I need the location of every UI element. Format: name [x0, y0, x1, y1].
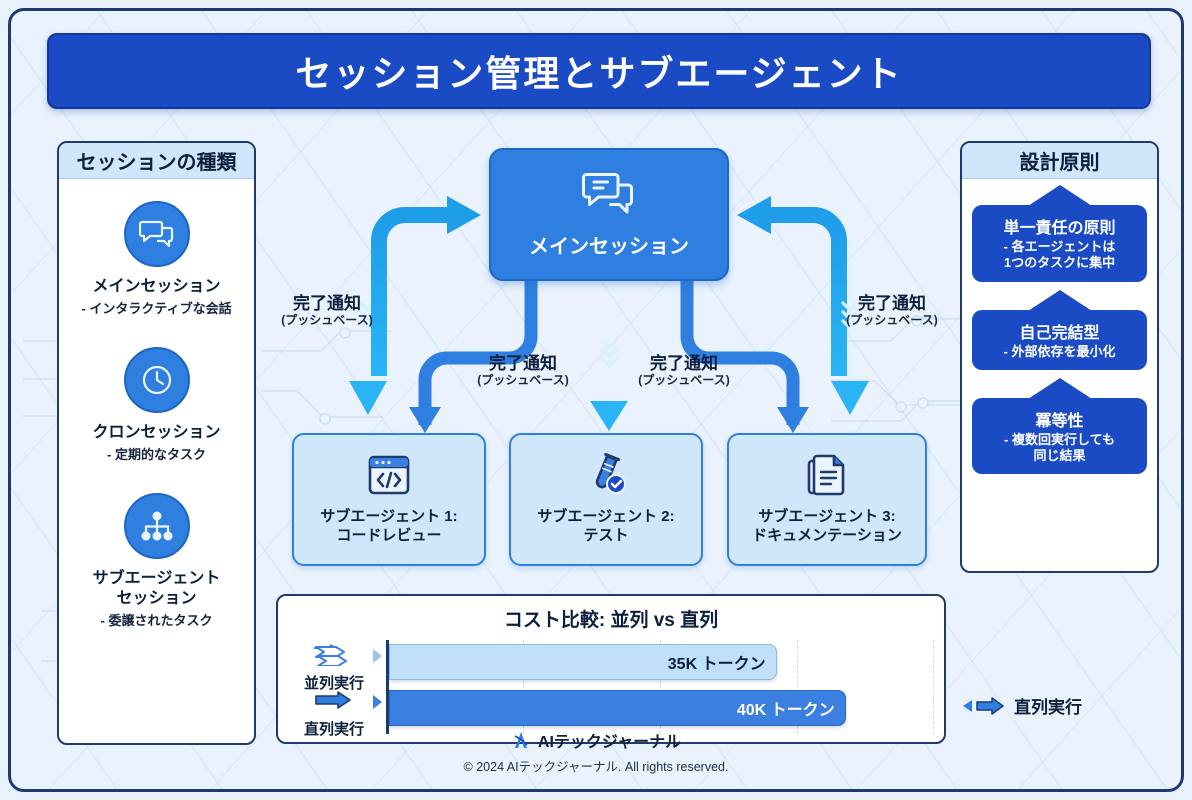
chart-bar-parallel[interactable]: 35K トークン	[389, 644, 777, 680]
chart-category-parallel: 並列実行	[288, 644, 380, 693]
arrow-label-mid-left: 完了通知 (プッシュベース)	[463, 354, 583, 387]
brand-logo-icon	[511, 730, 531, 750]
sequential-arrow-icon	[312, 690, 356, 712]
arrow-label-right-main: 完了通知	[829, 294, 955, 314]
session-type-subagent-sub: - 委譲されたタスク	[67, 610, 246, 629]
subagent-1-node[interactable]: サブエージェント 1: コードレビュー	[292, 433, 486, 566]
chart-tick-marker	[373, 695, 382, 709]
principle-3-title: 冪等性	[979, 407, 1140, 431]
documents-icon	[803, 453, 851, 502]
session-type-cron-sub: - 定期的なタスク	[67, 444, 246, 463]
chat-bubbles-icon	[581, 170, 637, 223]
chart-tick-marker	[373, 649, 382, 663]
main-session-label: メインセッション	[529, 230, 689, 259]
footer-copyright: © 2024 AIテックジャーナル. All rights reserved.	[11, 756, 1181, 775]
subagent-3-node[interactable]: サブエージェント 3: ドキュメンテーション	[727, 433, 927, 566]
chart-plot-area: 35K トークン 40K トークン	[386, 640, 934, 734]
arrow-label-mid-right-main: 完了通知	[624, 354, 744, 374]
arrow-right-curve-up	[737, 196, 839, 376]
parallel-arrow-icon	[312, 644, 356, 666]
session-types-panel: セッションの種類 メインセッション - インタラクティブな会話	[57, 141, 256, 745]
principle-1-sub: - 各エージェントは 1つのタスクに集中	[979, 239, 1140, 272]
arrow-label-right-sub: (プッシュベース)	[829, 314, 955, 328]
outer-frame: セッション管理とサブエージェント セッションの種類 メインセッション - インタ…	[8, 8, 1184, 792]
arrow-label-left-main: 完了通知	[264, 294, 390, 314]
chart-bar-row-parallel[interactable]: 35K トークン	[389, 644, 921, 680]
principle-2-title: 自己完結型	[979, 319, 1140, 343]
design-principles-heading: 設計原則	[1020, 146, 1100, 175]
page-title: セッション管理とサブエージェント	[47, 33, 1151, 109]
chart-title: コスト比較: 並列 vs 直列	[278, 605, 944, 632]
session-type-subagent[interactable]: サブエージェント セッション - 委譲されたタスク	[67, 493, 246, 628]
sequential-annotation: 直列実行	[951, 693, 1082, 718]
session-type-cron[interactable]: クロンセッション - 定期的なタスク	[67, 347, 246, 463]
chart-bar-row-sequential[interactable]: 40K トークン	[389, 690, 937, 726]
subagent-1-label: サブエージェント 1: コードレビュー	[320, 508, 457, 546]
cost-comparison-chart: コスト比較: 並列 vs 直列 並列実行 直列実行	[276, 594, 946, 744]
infographic-canvas: セッション管理とサブエージェント セッションの種類 メインセッション - インタ…	[0, 0, 1192, 800]
arrow-label-mid-left-sub: (プッシュベース)	[463, 374, 583, 388]
arrow-label-left: 完了通知 (プッシュベース)	[264, 294, 390, 327]
main-session-node[interactable]: メインセッション	[489, 148, 729, 281]
session-type-subagent-title: サブエージェント セッション	[67, 569, 246, 607]
annotation-arrows-icon	[951, 695, 1007, 717]
principle-idempotency[interactable]: 冪等性 - 複数回実行しても 同じ結果	[972, 398, 1147, 475]
page-title-text: セッション管理とサブエージェント	[295, 45, 902, 97]
footer-brand-text: AIテックジャーナル	[538, 728, 681, 752]
chat-bubbles-icon	[124, 201, 190, 267]
principle-1-title: 単一責任の原則	[979, 214, 1140, 238]
arrow-label-mid-left-main: 完了通知	[463, 354, 583, 374]
arrow-label-mid-right: 完了通知 (プッシュベース)	[624, 354, 744, 387]
hierarchy-icon	[124, 493, 190, 559]
code-window-icon	[365, 453, 413, 502]
test-tube-check-icon	[582, 453, 630, 502]
clock-icon	[124, 347, 190, 413]
footer-brand: AIテックジャーナル	[11, 728, 1181, 752]
session-type-main-title: メインセッション	[67, 277, 246, 296]
arrow-label-right: 完了通知 (プッシュベース)	[829, 294, 955, 327]
arrow-center-down	[590, 283, 628, 431]
design-principles-panel: 設計原則 単一責任の原則 - 各エージェントは 1つのタスクに集中 自己完結型 …	[960, 141, 1159, 573]
session-types-heading: セッションの種類	[77, 146, 237, 175]
chart-bar-sequential-value: 40K トークン	[737, 696, 835, 720]
chart-bar-parallel-value: 35K トークン	[668, 650, 766, 674]
subagent-3-label: サブエージェント 3: ドキュメンテーション	[752, 508, 902, 546]
principle-3-sub: - 複数回実行しても 同じ結果	[979, 432, 1140, 465]
arrow-label-left-sub: (プッシュベース)	[264, 314, 390, 328]
session-type-cron-title: クロンセッション	[67, 423, 246, 442]
principle-2-sub: - 外部依存を最小化	[979, 344, 1140, 360]
arrow-left-curve-up	[379, 196, 481, 376]
footer: AIテックジャーナル © 2024 AIテックジャーナル. All rights…	[11, 728, 1181, 775]
principle-single-responsibility[interactable]: 単一責任の原則 - 各エージェントは 1つのタスクに集中	[972, 205, 1147, 282]
session-type-main-sub: - インタラクティブな会話	[67, 298, 246, 317]
design-principles-header: 設計原則	[962, 143, 1157, 179]
principle-self-contained[interactable]: 自己完結型 - 外部依存を最小化	[972, 310, 1147, 370]
arrow-label-mid-right-sub: (プッシュベース)	[624, 374, 744, 388]
chart-bar-sequential[interactable]: 40K トークン	[389, 690, 846, 726]
subagent-2-node[interactable]: サブエージェント 2: テスト	[509, 433, 703, 566]
sequential-annotation-label: 直列実行	[1014, 693, 1082, 718]
session-type-main[interactable]: メインセッション - インタラクティブな会話	[67, 201, 246, 317]
subagent-2-label: サブエージェント 2: テスト	[537, 508, 674, 546]
session-types-header: セッションの種類	[59, 143, 254, 179]
